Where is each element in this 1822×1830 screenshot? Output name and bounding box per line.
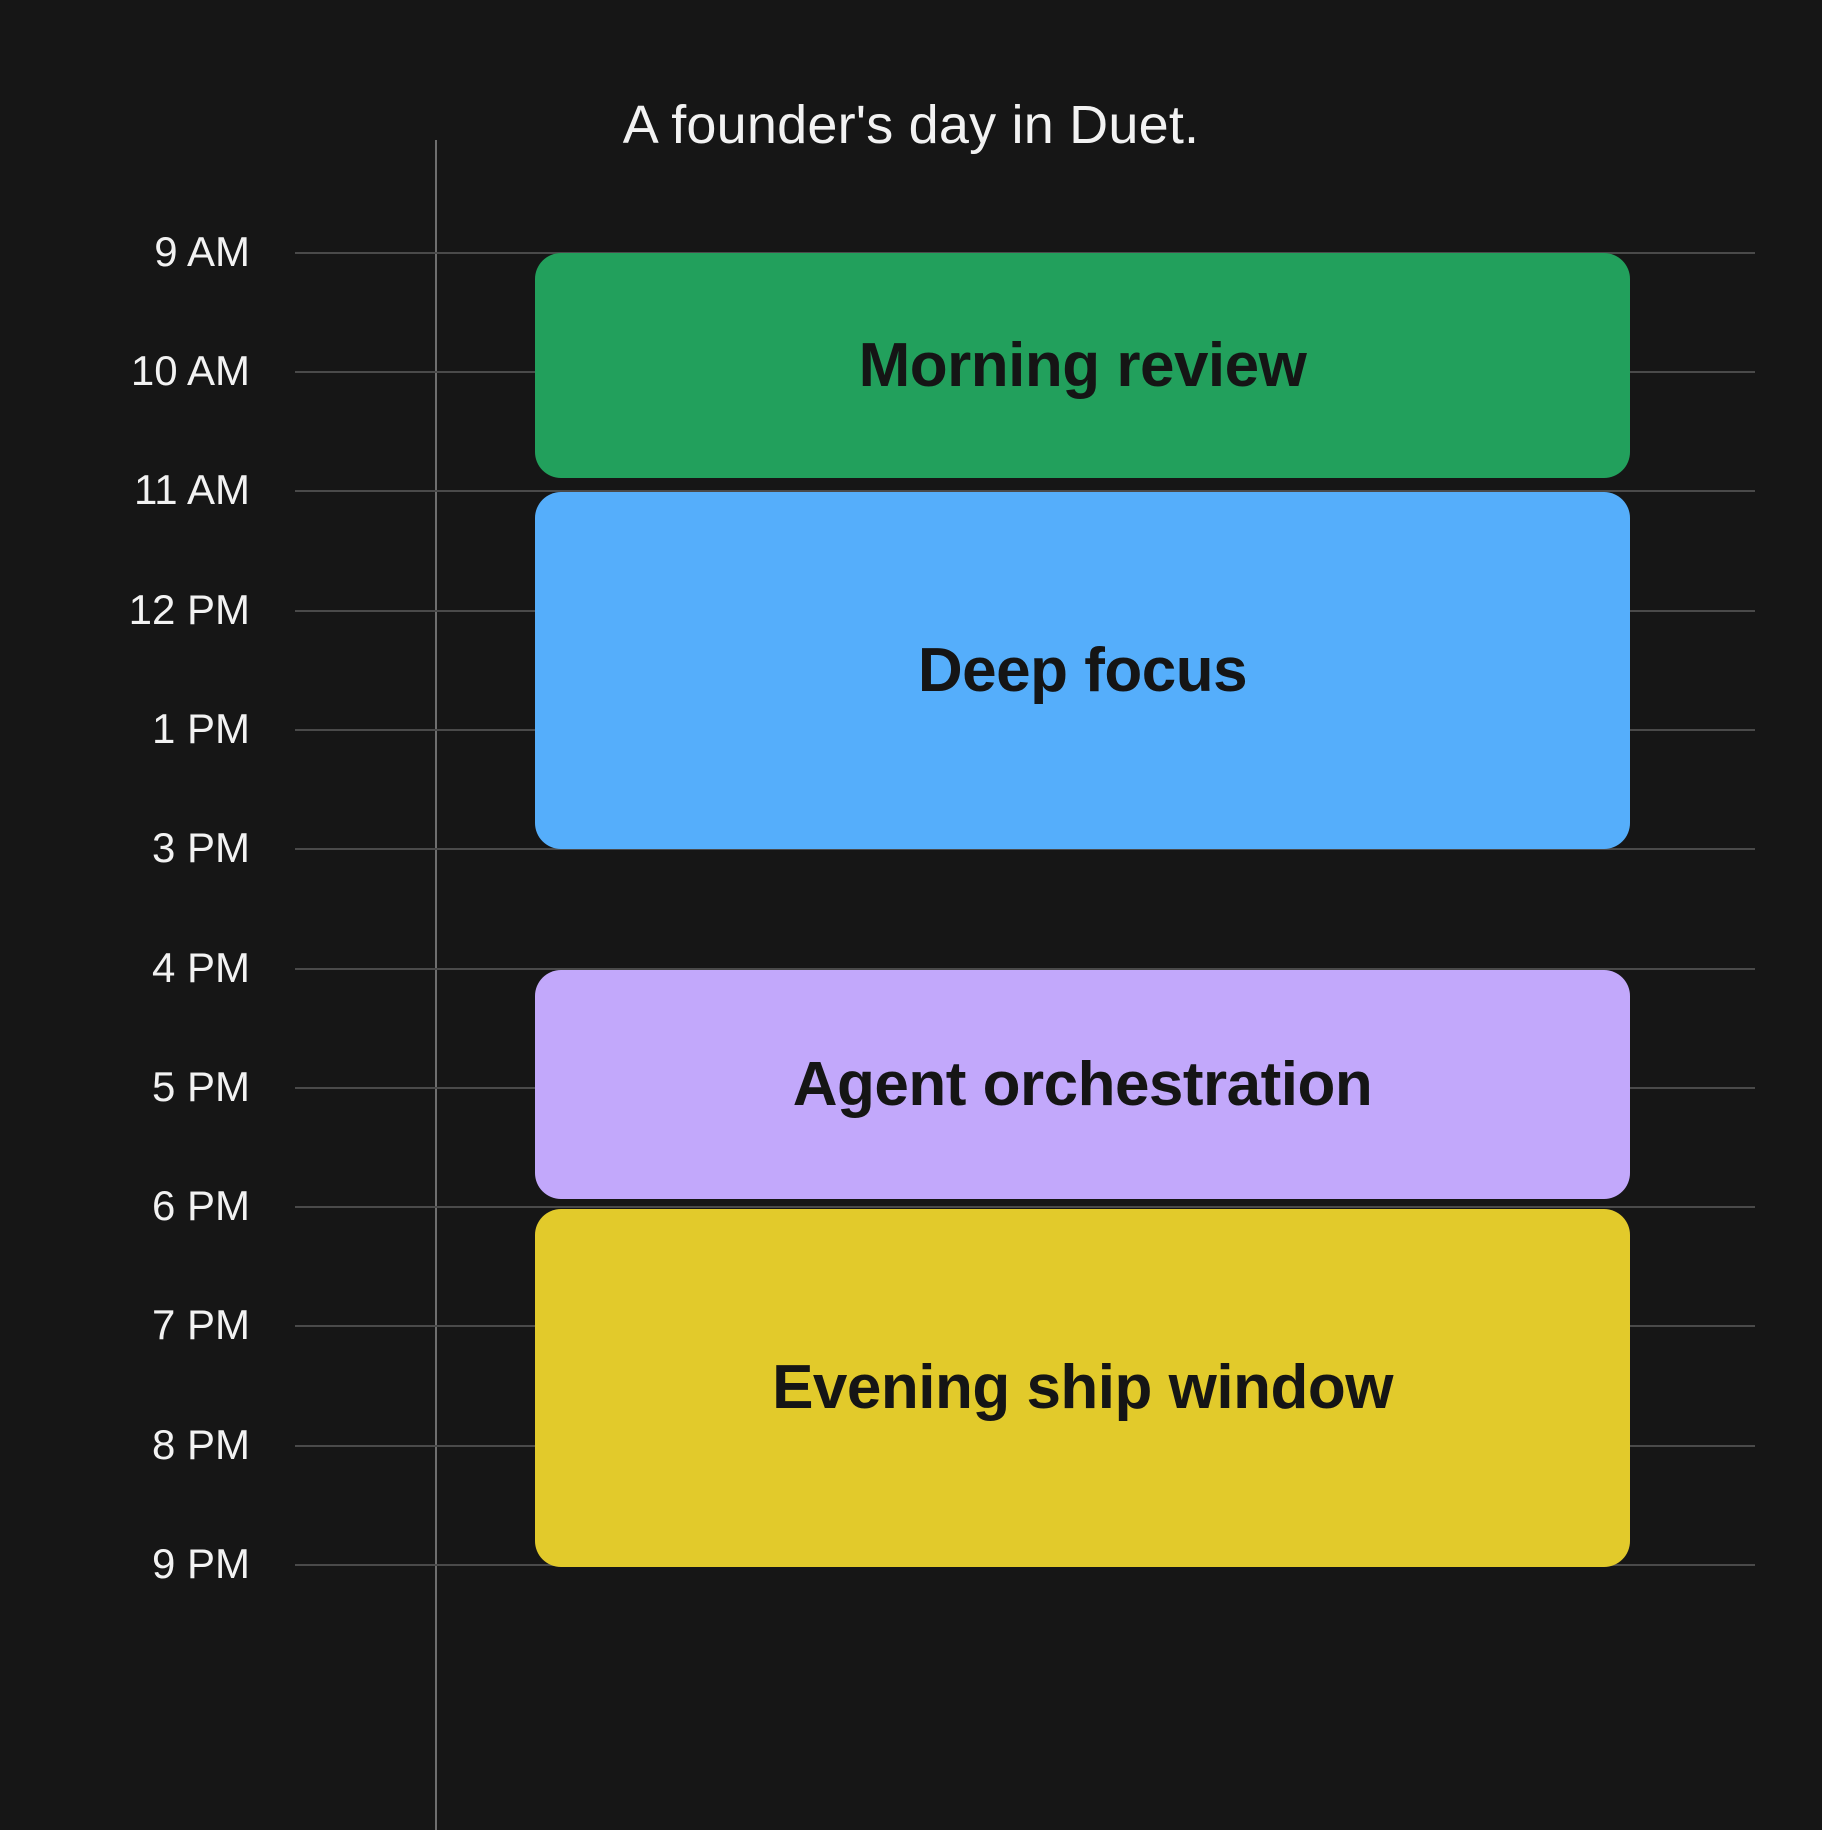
time-tick-label: 1 PM: [0, 708, 250, 750]
time-tick-label: 3 PM: [0, 827, 250, 869]
event-label: Deep focus: [918, 638, 1247, 703]
time-tick-label: 5 PM: [0, 1066, 250, 1108]
event-label: Evening ship window: [772, 1355, 1393, 1420]
time-tick-label: 10 AM: [0, 350, 250, 392]
time-tick-label: 12 PM: [0, 589, 250, 631]
time-tick-label: 6 PM: [0, 1185, 250, 1227]
event-block[interactable]: Deep focus: [535, 492, 1630, 849]
time-tick-label: 9 AM: [0, 231, 250, 273]
time-tick-label: 8 PM: [0, 1424, 250, 1466]
event-block[interactable]: Evening ship window: [535, 1209, 1630, 1567]
page-title: A founder's day in Duet.: [0, 98, 1822, 152]
event-label: Agent orchestration: [793, 1052, 1373, 1117]
gridline: [295, 1206, 1755, 1208]
event-block[interactable]: Morning review: [535, 253, 1630, 478]
time-tick-label: 11 AM: [0, 469, 250, 511]
calendar-chart: A founder's day in Duet. 9 AM10 AM11 AM1…: [0, 0, 1822, 1808]
time-tick-label: 9 PM: [0, 1543, 250, 1585]
event-label: Morning review: [859, 333, 1307, 398]
time-tick-label: 7 PM: [0, 1304, 250, 1346]
time-axis-line: [435, 140, 437, 1830]
event-block[interactable]: Agent orchestration: [535, 970, 1630, 1199]
time-tick-label: 4 PM: [0, 947, 250, 989]
